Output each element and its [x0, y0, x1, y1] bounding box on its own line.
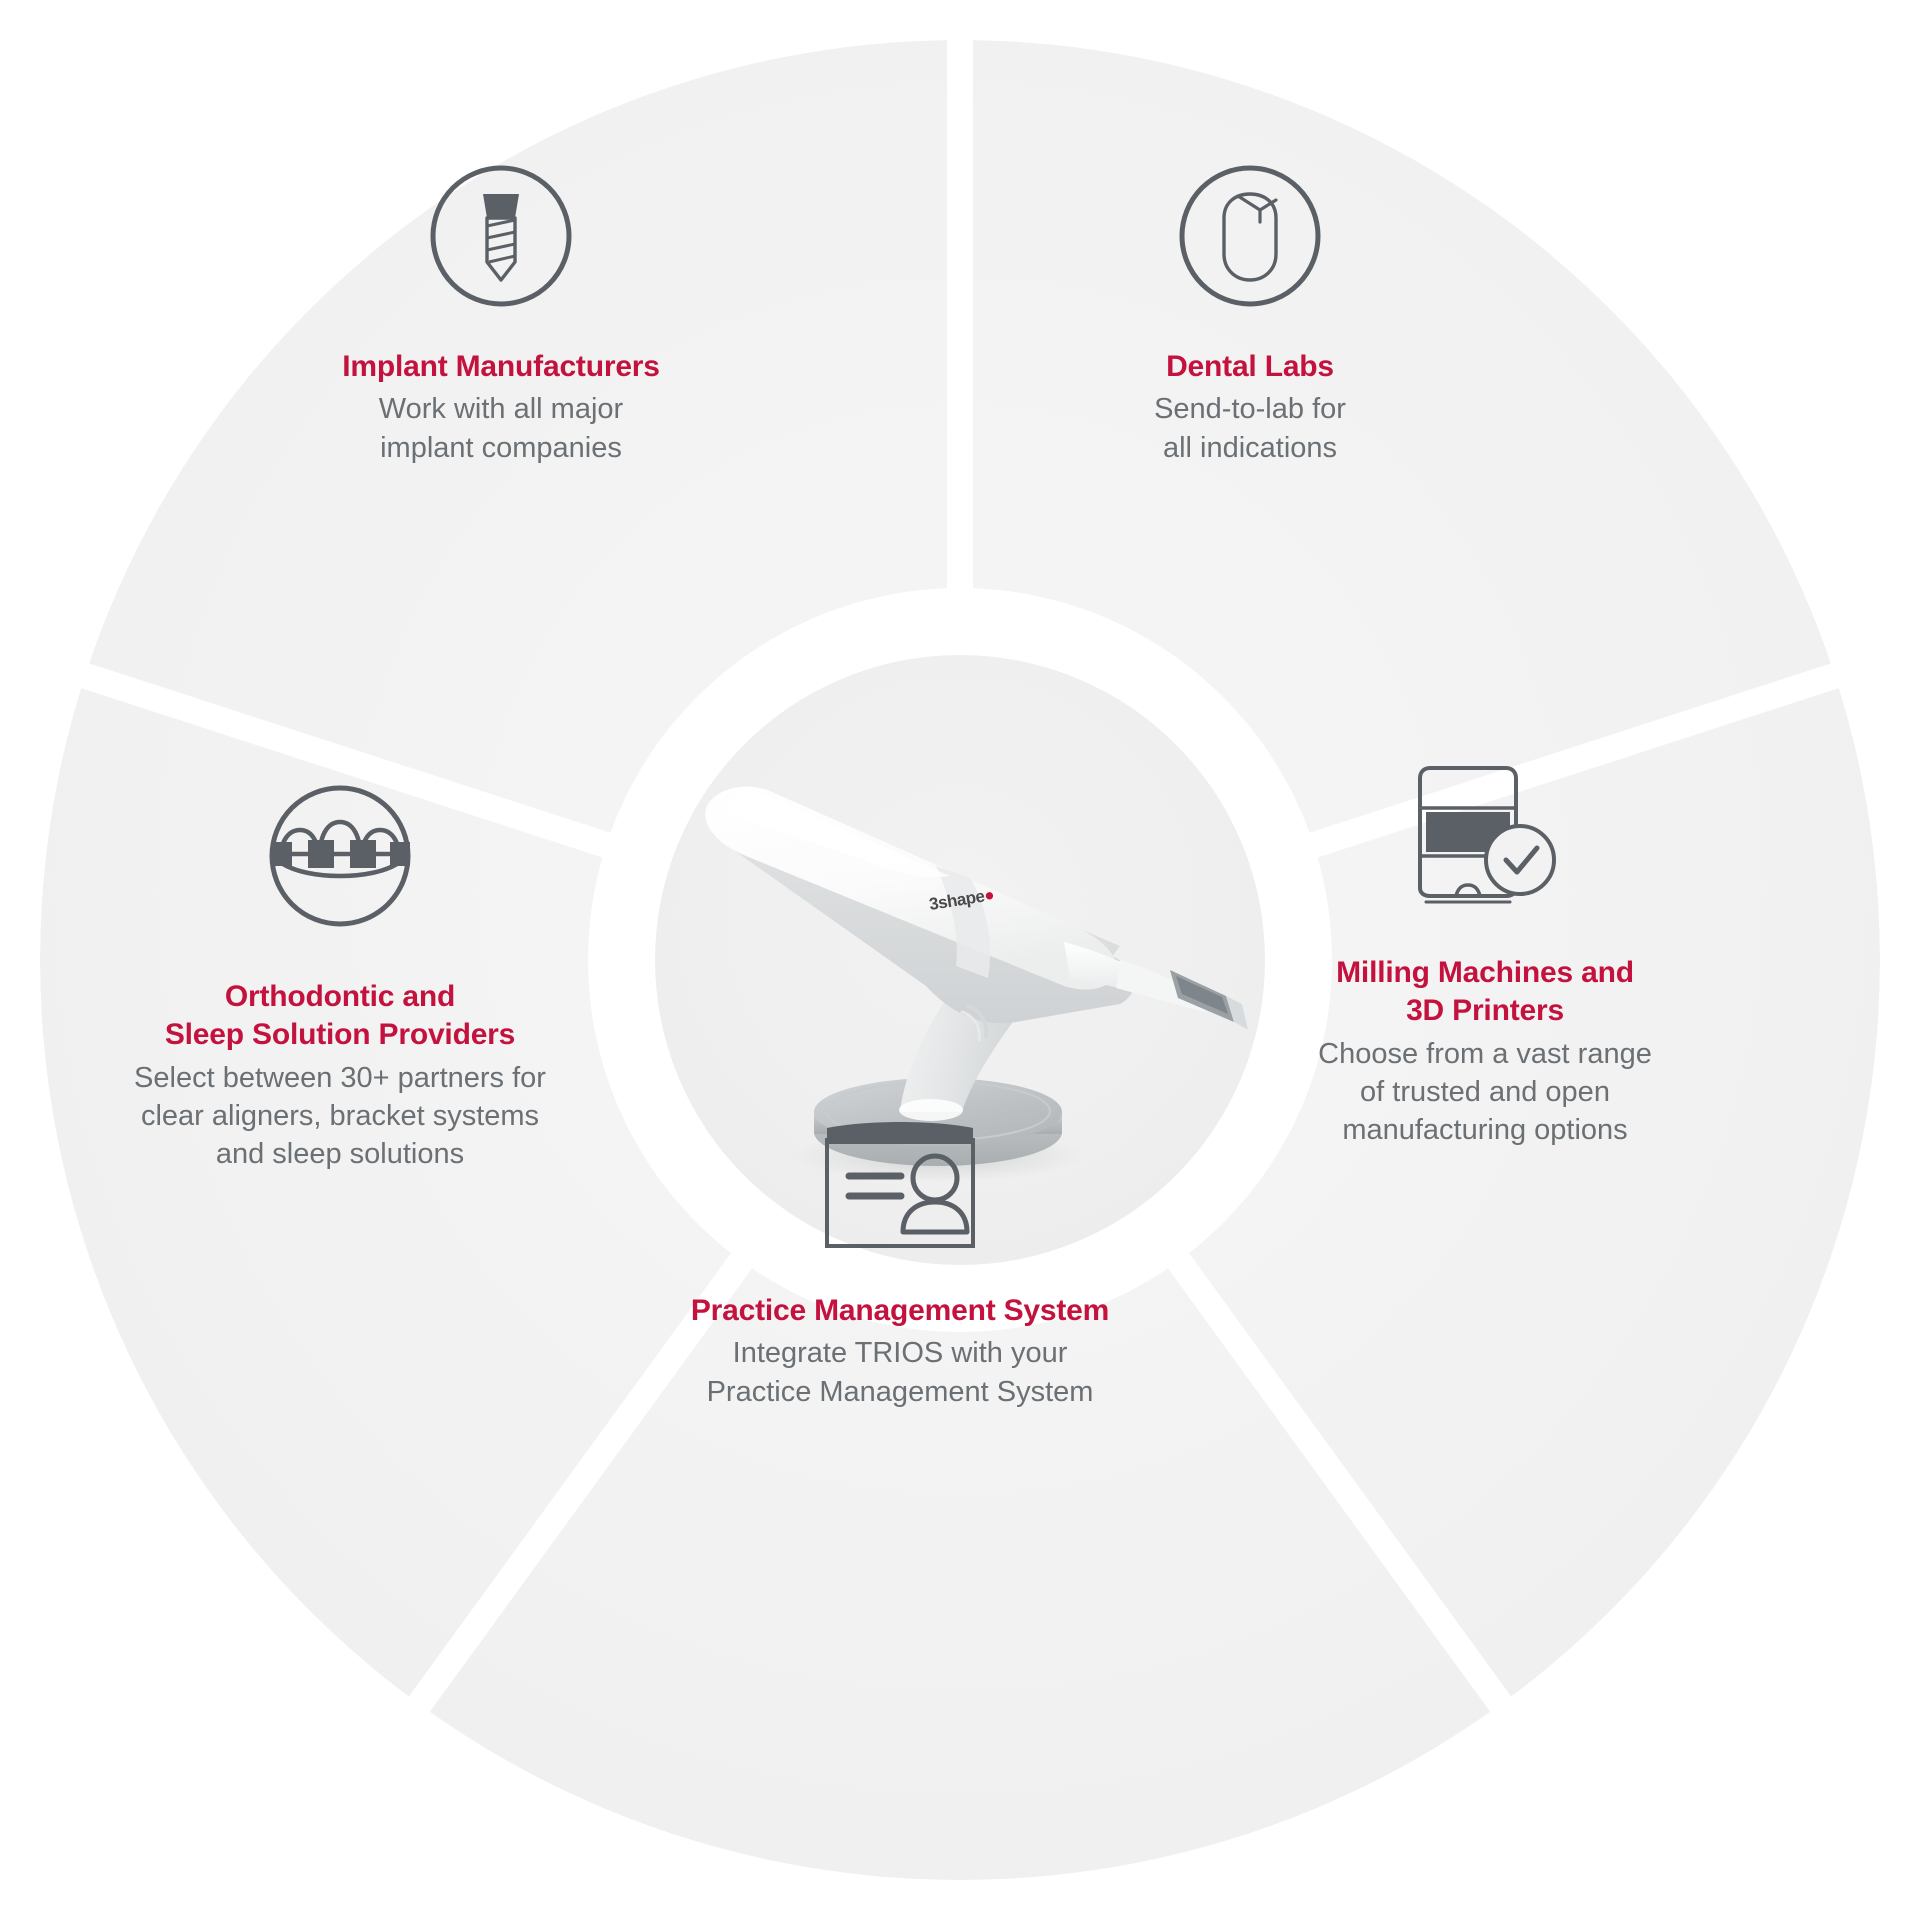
dental-braces-icon	[60, 780, 620, 932]
segment-title: Practice Management System	[580, 1292, 1220, 1330]
segment-title: Dental Labs	[1000, 348, 1500, 386]
segment-orthodontic-sleep-solution-providers[interactable]: Orthodontic and Sleep Solution Providers…	[60, 780, 620, 1174]
segment-milling-machines-3d-printers[interactable]: Milling Machines and 3D Printers Choose …	[1250, 760, 1720, 1150]
milling-machine-check-icon	[1250, 760, 1720, 910]
tooth-crown-icon	[1000, 162, 1500, 310]
segment-description: Choose from a vast range of trusted and …	[1250, 1035, 1720, 1150]
segment-title: Milling Machines and 3D Printers	[1250, 954, 1720, 1031]
infographic-canvas: 3shape● Implant Manufacturers Work with …	[0, 0, 1920, 1920]
segment-dental-labs[interactable]: Dental Labs Send-to-lab for all indicati…	[1000, 162, 1500, 467]
patient-record-card-icon	[580, 1110, 1220, 1256]
segment-implant-manufacturers[interactable]: Implant Manufacturers Work with all majo…	[236, 162, 766, 467]
segment-description: Select between 30+ partners for clear al…	[60, 1059, 620, 1174]
segment-title: Orthodontic and Sleep Solution Providers	[60, 978, 620, 1055]
segment-practice-management-system[interactable]: Practice Management System Integrate TRI…	[580, 1110, 1220, 1411]
segment-description: Work with all major implant companies	[236, 390, 766, 467]
dental-implant-screw-icon	[236, 162, 766, 310]
segment-description: Send-to-lab for all indications	[1000, 390, 1500, 467]
segment-title: Implant Manufacturers	[236, 348, 766, 386]
segment-description: Integrate TRIOS with your Practice Manag…	[580, 1334, 1220, 1411]
